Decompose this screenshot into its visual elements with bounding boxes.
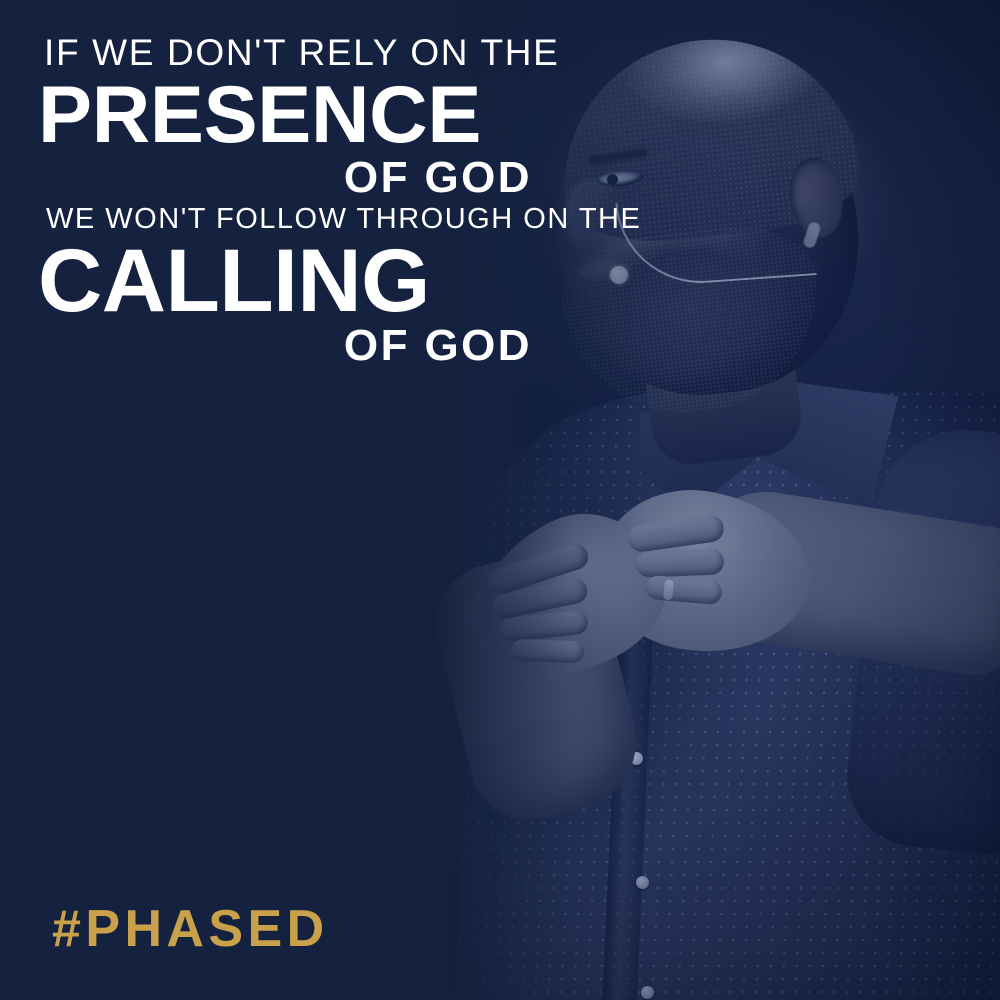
quote-line-6: OF GOD (42, 325, 532, 367)
quote-line-1: IF WE DON'T RELY ON THE (44, 34, 530, 71)
quote-line-2: PRESENCE (38, 77, 530, 155)
quote-line-3: OF GOD (42, 157, 532, 199)
quote-block: IF WE DON'T RELY ON THE PRESENCE OF GOD … (0, 0, 566, 368)
campaign-hashtag: #PHASED (52, 903, 329, 955)
quote-graphic-canvas: IF WE DON'T RELY ON THE PRESENCE OF GOD … (0, 0, 1000, 1000)
quote-line-5: CALLING (38, 238, 530, 323)
